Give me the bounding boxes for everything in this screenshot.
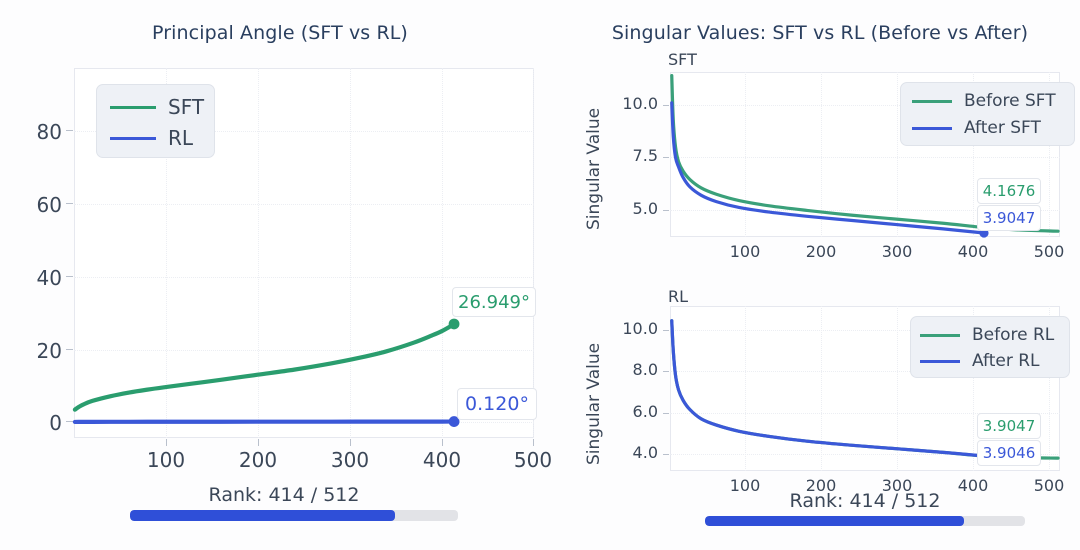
rl-singular-curves [560,0,1080,550]
sft-endpoint-annotation: 26.949° [452,287,536,317]
before-rl-legend-swatch-icon [920,334,960,337]
right-rank-slider-label: Rank: 414 / 512 [685,490,1045,512]
right-rank-slider-fill [705,516,964,526]
sft-angle-line [75,324,454,410]
sft-legend-swatch-icon [110,106,156,109]
legend-entry-before-rl[interactable]: Before RL [920,322,1054,348]
left-rank-slider-track[interactable] [130,510,458,521]
right-rank-slider-track[interactable] [705,516,1025,526]
legend-entry-sft[interactable]: SFT [110,93,204,121]
legend-entry-after-rl[interactable]: After RL [920,348,1040,374]
after-rl-value-annotation: 3.9046 [977,440,1041,466]
after-rl-legend-swatch-icon [920,360,960,363]
legend-entry-rl[interactable]: RL [110,124,193,152]
legend-label-sft: SFT [168,95,204,119]
left-rank-slider-fill [130,510,395,521]
singular-values-chart-panel: Singular Values: SFT vs RL (Before vs Af… [560,0,1080,550]
left-rank-slider-label: Rank: 414 / 512 [104,484,464,506]
legend-label-rl: RL [168,126,193,150]
principal-angle-curves [0,0,560,550]
rl-endpoint-annotation: 0.120° [457,388,537,420]
legend-label-after-rl: After RL [972,351,1040,371]
before-rl-value-annotation: 3.9047 [977,413,1041,439]
legend-label-before-rl: Before RL [972,325,1054,345]
sft-endpoint-marker [449,319,460,330]
rl-legend-swatch-icon [110,137,156,140]
principal-angle-chart-panel: Principal Angle (SFT vs RL) 0 20 40 60 8… [0,0,560,550]
